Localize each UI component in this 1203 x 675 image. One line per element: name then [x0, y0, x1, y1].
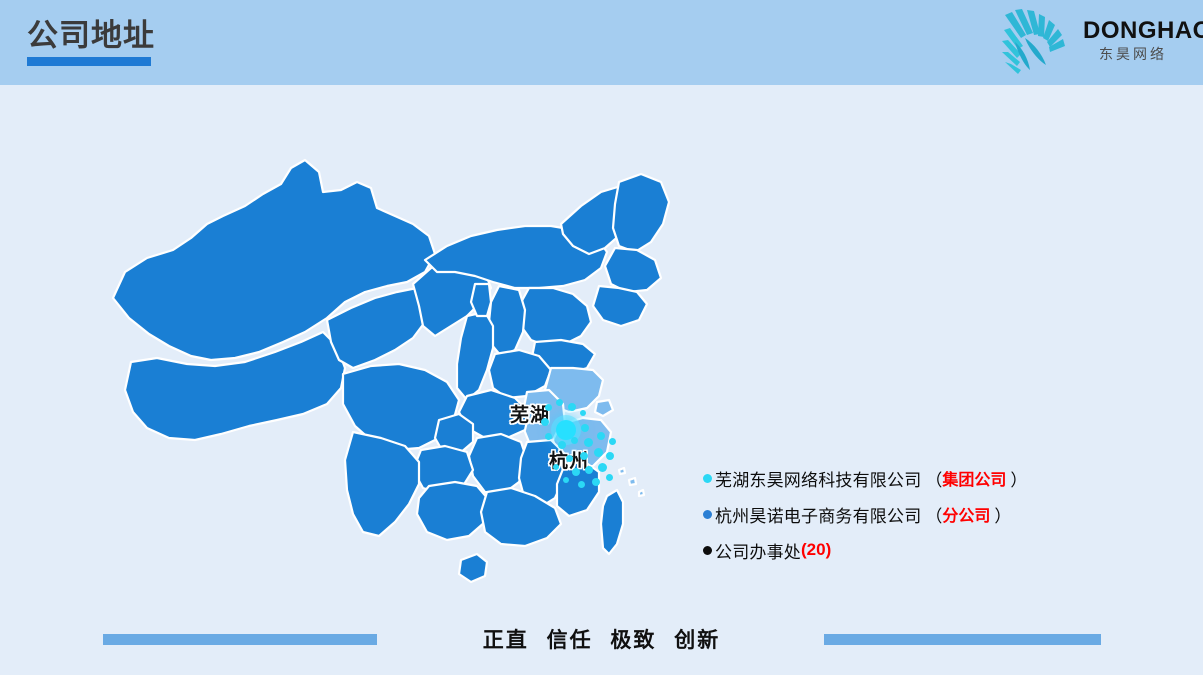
footer-rule-right [824, 634, 1101, 645]
slide-canvas: 公司地址 [0, 0, 1203, 675]
legend-paren-open: （ [925, 502, 942, 527]
slide-footer: 正直 信任 极致 创新 [0, 620, 1203, 660]
page-title: 公司地址 [27, 17, 155, 55]
legend-label-group-company: 芜湖东昊网络科技有限公司 [715, 466, 921, 491]
legend-item-offices: 公司办事处(20) [703, 532, 1033, 568]
legend-label-offices: 公司办事处 [715, 538, 801, 563]
slide-header: 公司地址 [0, 0, 1203, 85]
legend-offices-count: (20) [801, 540, 831, 560]
logo-text-block: DONGHAO 东昊网络 [1083, 18, 1183, 63]
china-map [95, 120, 675, 620]
company-logo: DONGHAO 东昊网络 [995, 8, 1185, 76]
legend-emphasis-group: 集团公司 [942, 466, 1006, 490]
legend-bullet-cyan [703, 474, 712, 483]
feather-wing-icon [995, 8, 1081, 76]
legend-paren-close: ） [1010, 466, 1027, 491]
legend-label-branch-company: 杭州昊诺电子商务有限公司 [715, 502, 921, 527]
legend-item-group-company: 芜湖东昊网络科技有限公司 （集团公司） [703, 460, 1033, 496]
page-title-wrap: 公司地址 [27, 17, 155, 66]
legend-paren-open: （ [925, 466, 942, 491]
map-label-wuhu: 芜湖 [510, 400, 550, 427]
page-title-underline [27, 57, 151, 66]
legend-bullet-black [703, 546, 712, 555]
legend-bullet-blue [703, 510, 712, 519]
legend: 芜湖东昊网络科技有限公司 （集团公司） 杭州昊诺电子商务有限公司 （分公司） 公… [703, 460, 1033, 568]
legend-paren-close: ） [994, 502, 1011, 527]
map-label-hangzhou: 杭州 [549, 446, 589, 473]
logo-subtitle: 东昊网络 [1083, 45, 1183, 63]
legend-emphasis-branch: 分公司 [942, 502, 990, 526]
logo-name: DONGHAO [1083, 18, 1183, 44]
legend-item-branch-company: 杭州昊诺电子商务有限公司 （分公司） [703, 496, 1033, 532]
